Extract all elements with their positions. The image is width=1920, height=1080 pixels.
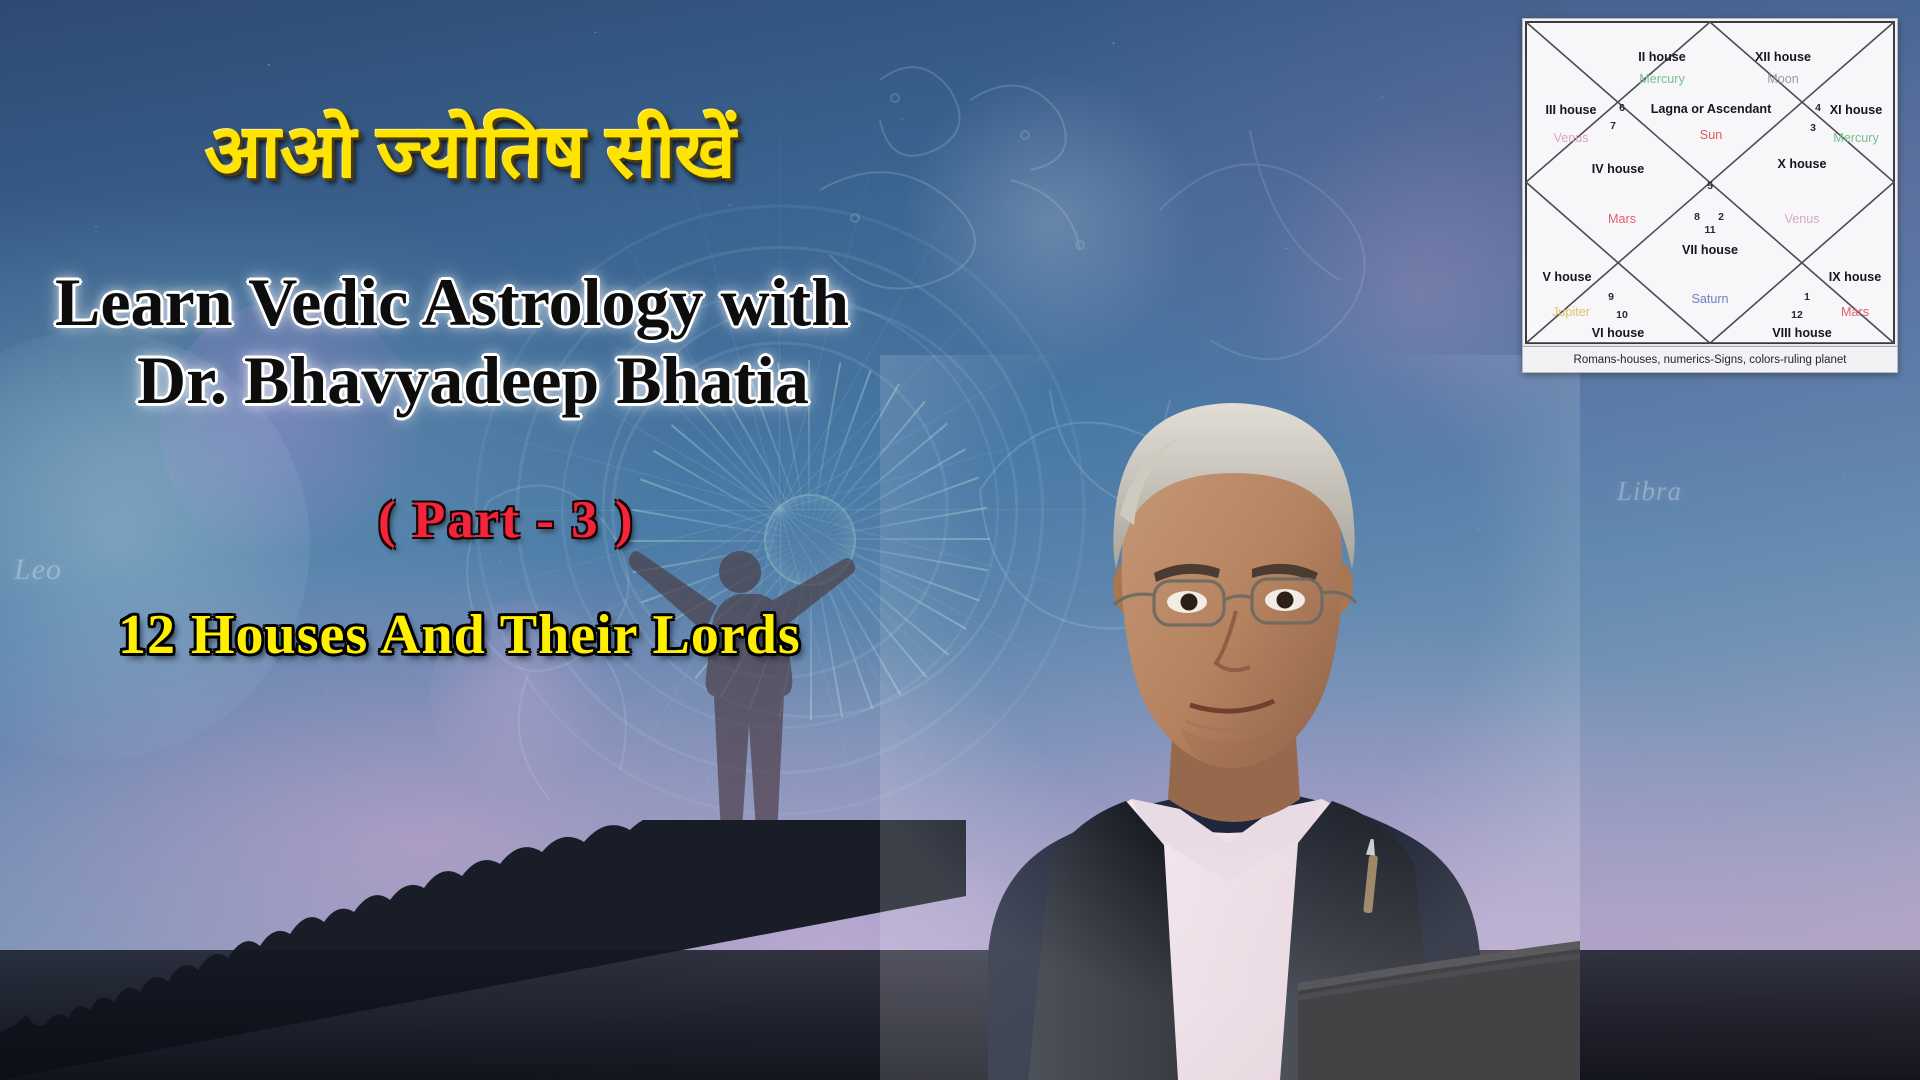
zodiac-label-libra: Libra [1617,476,1682,507]
sign-number: 10 [1616,309,1628,321]
house-label: IV house [1592,162,1644,176]
house-label: VII house [1682,243,1738,257]
main-title-line-1: Learn Vedic Astrology with [55,264,849,340]
sign-number: 2 [1718,211,1724,223]
zodiac-label-leo: Leo [14,553,62,587]
sign-number: 12 [1791,309,1803,321]
presenter-photo [880,355,1580,1080]
house-label: VIII house [1772,326,1831,340]
sign-number: 3 [1810,122,1816,134]
sign-number: 8 [1694,211,1700,223]
house-label: VI house [1592,326,1644,340]
house-label: II house [1638,50,1686,64]
video-thumbnail: Leo Libra आओ ज्योतिष सीखें Learn Vedic A… [0,0,1920,1080]
sign-number: 9 [1608,291,1614,303]
sign-number: 5 [1707,180,1713,192]
lagna-label: Lagna or Ascendant [1651,102,1772,116]
sign-number: 6 [1619,102,1625,114]
planet-label: Mercury [1833,131,1878,145]
sign-number: 7 [1610,120,1616,132]
constellation-scribble-icon [760,40,1180,300]
planet-label: Venus [1553,131,1588,145]
kundali-chart-caption: Romans-houses, numerics-Signs, colors-ru… [1522,347,1898,373]
planet-label: Saturn [1691,292,1728,306]
house-label: XII house [1755,50,1811,64]
main-title-line-2: Dr. Bhavyadeep Bhatia [55,341,849,419]
planet-label: Venus [1784,212,1819,226]
hindi-title: आओ ज्योतिष सीखें [205,98,736,199]
sign-number: 4 [1815,102,1821,114]
planet-label: Mercury [1639,72,1684,86]
sign-number: 11 [1704,224,1715,236]
subject-label: 12 Houses And Their Lords [118,603,801,667]
planet-label: Jupiter [1552,305,1590,319]
part-label: ( Part - 3 ) [378,490,635,550]
planet-label: Mars [1608,212,1636,226]
house-label: X house [1778,157,1827,171]
kundali-chart: II houseMercury6XII houseMoon4III houseV… [1522,18,1898,347]
page-title: Learn Vedic Astrology with Dr. Bhavyadee… [55,263,849,419]
constellation-scribble-icon [1130,90,1430,390]
planet-label: Moon [1767,72,1799,86]
planet-label: Mars [1841,305,1869,319]
house-label: V house [1543,270,1592,284]
sign-number: 1 [1804,291,1810,303]
house-label: IX house [1829,270,1881,284]
house-label: XI house [1830,103,1882,117]
planet-label: Sun [1700,128,1722,142]
house-label: III house [1545,103,1596,117]
